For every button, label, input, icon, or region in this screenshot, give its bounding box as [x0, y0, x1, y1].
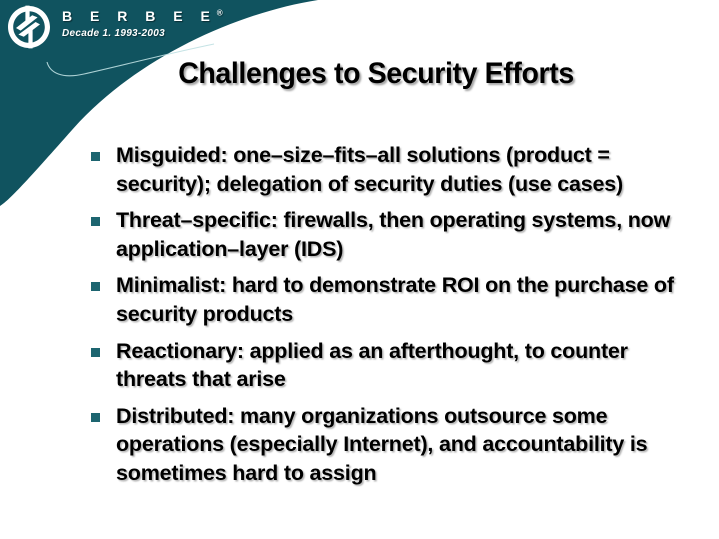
list-item-text: Threat–specific: firewalls, then operati… — [116, 208, 670, 261]
berbee-wordmark: B E R B E E® — [62, 9, 223, 23]
presentation-slide: B E R B E E® Decade 1. 1993-2003 Challen… — [0, 0, 719, 539]
bullet-list: Misguided: one–size–fits–all solutions (… — [88, 141, 688, 488]
list-item-text: Reactionary: applied as an afterthought,… — [116, 339, 628, 392]
brand-text-block: B E R B E E® Decade 1. 1993-2003 — [62, 4, 223, 39]
page-title: Challenges to Security Efforts — [72, 57, 680, 91]
list-item: Threat–specific: firewalls, then operati… — [88, 206, 688, 263]
list-item-text: Misguided: one–size–fits–all solutions (… — [116, 143, 623, 196]
square-bullet-icon — [91, 413, 100, 422]
list-item-text: Distributed: many organizations outsourc… — [116, 404, 647, 485]
list-item: Reactionary: applied as an afterthought,… — [88, 337, 688, 394]
registered-trademark-icon: ® — [217, 8, 223, 17]
square-bullet-icon — [91, 348, 100, 357]
berbee-circle-bolt-logo-icon — [6, 4, 52, 50]
brand-tagline: Decade 1. 1993-2003 — [62, 28, 223, 39]
square-bullet-icon — [91, 152, 100, 161]
list-item: Misguided: one–size–fits–all solutions (… — [88, 141, 688, 198]
list-item-text: Minimalist: hard to demonstrate ROI on t… — [116, 273, 674, 326]
square-bullet-icon — [91, 282, 100, 291]
brand-lockup: B E R B E E® Decade 1. 1993-2003 — [6, 4, 223, 50]
wordmark-text: B E R B E E — [62, 8, 217, 24]
square-bullet-icon — [91, 217, 100, 226]
list-item: Minimalist: hard to demonstrate ROI on t… — [88, 271, 688, 328]
list-item: Distributed: many organizations outsourc… — [88, 402, 688, 488]
